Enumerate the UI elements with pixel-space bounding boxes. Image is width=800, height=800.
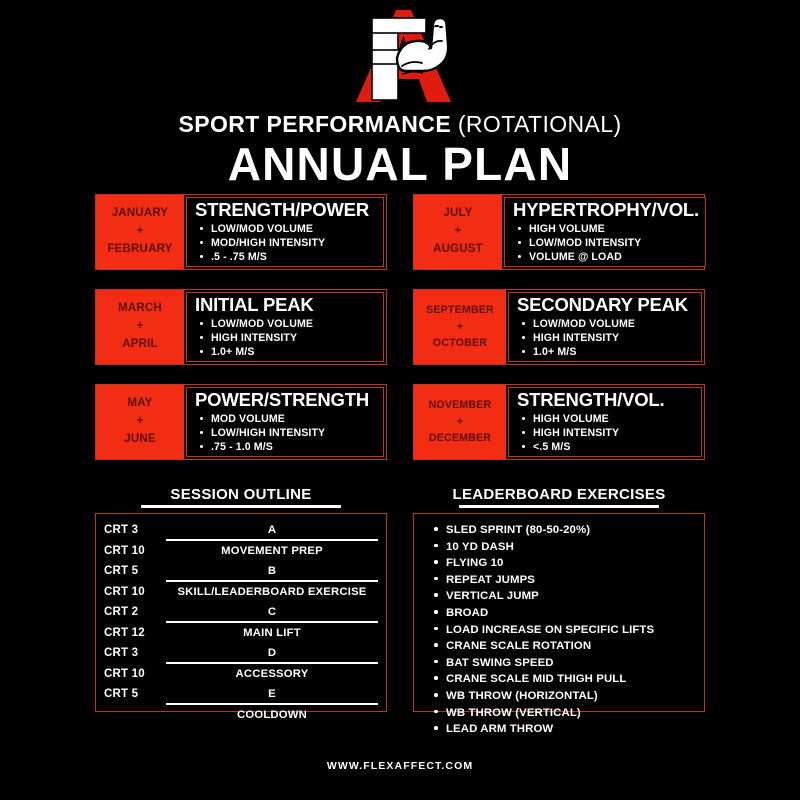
logo-area (0, 4, 800, 108)
phase-body: HYPERTROPHY/VOL. HIGH VOLUME LOW/MOD INT… (504, 197, 706, 267)
month-bottom: FEBRUARY (107, 241, 172, 259)
subtitle-bold: SPORT PERFORMANCE (178, 111, 451, 137)
phase-bullets: LOW/MOD VOLUME HIGH INTENSITY 1.0+ M/S (195, 317, 377, 359)
phase-months: JULY + AUGUST (414, 195, 502, 269)
session-crt: CRT 3 (104, 647, 166, 659)
session-crt: CRT 2 (104, 606, 166, 618)
session-item: COOLDOWN (166, 709, 378, 721)
session-row: COOLDOWN (104, 705, 378, 726)
phase-block: SEPTEMBER + OCTOBER SECONDARY PEAK LOW/M… (413, 289, 705, 365)
session-item: A (166, 524, 378, 536)
month-plus: + (455, 223, 462, 241)
phase-title: STRENGTH/VOL. (517, 390, 695, 409)
list-item: SLED SPRINT (80-50-20%) (446, 522, 696, 539)
session-crt: CRT 5 (104, 688, 166, 700)
heading-underline (141, 505, 341, 508)
session-item: SKILL/LEADERBOARD EXERCISE (166, 586, 378, 598)
phase-block: JANUARY + FEBRUARY STRENGTH/POWER LOW/MO… (95, 194, 387, 270)
phase-block: NOVEMBER + DECEMBER STRENGTH/VOL. HIGH V… (413, 384, 705, 460)
phase-bullet: LOW/MOD INTENSITY (529, 236, 699, 250)
phase-bullet: HIGH INTENSITY (533, 331, 695, 345)
month-plus: + (137, 413, 144, 431)
list-item: FLYING 10 (446, 555, 696, 572)
month-plus: + (137, 223, 144, 241)
footer-url[interactable]: WWW.FLEXAFFECT.COM (0, 760, 800, 772)
page-title: ANNUAL PLAN (0, 139, 800, 190)
lower-sections: SESSION OUTLINE CRT 3 A CRT 10 MOVEMENT … (95, 486, 705, 712)
phase-bullets: HIGH VOLUME HIGH INTENSITY <.5 M/S (517, 412, 695, 454)
month-bottom: AUGUST (433, 241, 483, 259)
phase-block: JULY + AUGUST HYPERTROPHY/VOL. HIGH VOLU… (413, 194, 705, 270)
month-plus: + (457, 414, 463, 430)
list-item: WB THROW (VERTICAL) (446, 705, 696, 722)
list-item: BROAD (446, 605, 696, 622)
leaderboard-heading: LEADERBOARD EXERCISES (413, 486, 705, 503)
session-item: ACCESSORY (166, 668, 378, 680)
phase-title: SECONDARY PEAK (517, 295, 695, 314)
session-crt: CRT 3 (104, 524, 166, 536)
session-item: MOVEMENT PREP (166, 545, 378, 557)
month-bottom: OCTOBER (433, 335, 487, 351)
session-row: CRT 3 A (104, 520, 378, 541)
phase-block: MARCH + APRIL INITIAL PEAK LOW/MOD VOLUM… (95, 289, 387, 365)
month-top: MAY (127, 395, 152, 413)
phase-months: NOVEMBER + DECEMBER (414, 385, 506, 459)
phase-bullet: .75 - 1.0 M/S (211, 440, 377, 454)
month-plus: + (137, 318, 144, 336)
phase-block: MAY + JUNE POWER/STRENGTH MOD VOLUME LOW… (95, 384, 387, 460)
list-item: 10 YD DASH (446, 539, 696, 556)
phase-bullet: HIGH INTENSITY (211, 331, 377, 345)
phase-bullet: VOLUME @ LOAD (529, 250, 699, 264)
session-crt: CRT 10 (104, 545, 166, 557)
flex-affect-logo-icon (339, 6, 461, 106)
phase-body: INITIAL PEAK LOW/MOD VOLUME HIGH INTENSI… (186, 292, 384, 362)
session-crt: CRT 10 (104, 668, 166, 680)
session-outline-panel: CRT 3 A CRT 10 MOVEMENT PREP CRT 5 B CRT… (95, 513, 387, 712)
annual-plan-infographic: SPORT PERFORMANCE (ROTATIONAL) ANNUAL PL… (0, 0, 800, 800)
leaderboard-section: LEADERBOARD EXERCISES SLED SPRINT (80-50… (413, 486, 705, 712)
heading-underline (459, 505, 659, 508)
session-row: CRT 12 MAIN LIFT (104, 623, 378, 644)
session-row: CRT 10 MOVEMENT PREP (104, 541, 378, 562)
month-bottom: APRIL (122, 336, 158, 354)
list-item: LEAD ARM THROW (446, 721, 696, 738)
session-row: CRT 5 E (104, 684, 378, 705)
session-item: C (166, 606, 378, 618)
session-crt: CRT 12 (104, 627, 166, 639)
phase-body: STRENGTH/POWER LOW/MOD VOLUME MOD/HIGH I… (186, 197, 384, 267)
phase-bullet: 1.0+ M/S (533, 345, 695, 359)
month-top: SEPTEMBER (426, 302, 494, 318)
leaderboard-panel: SLED SPRINT (80-50-20%) 10 YD DASH FLYIN… (413, 513, 705, 712)
phase-bullets: LOW/MOD VOLUME MOD/HIGH INTENSITY .5 - .… (195, 222, 377, 264)
list-item: REPEAT JUMPS (446, 572, 696, 589)
phase-bullet: LOW/MOD VOLUME (211, 222, 377, 236)
phase-title: INITIAL PEAK (195, 295, 377, 314)
list-item: LOAD INCREASE ON SPECIFIC LIFTS (446, 622, 696, 639)
title-block: SPORT PERFORMANCE (ROTATIONAL) ANNUAL PL… (0, 112, 800, 190)
month-bottom: DECEMBER (429, 430, 491, 446)
phase-bullet: HIGH INTENSITY (533, 426, 695, 440)
phase-title: HYPERTROPHY/VOL. (513, 200, 699, 219)
phase-bullets: MOD VOLUME LOW/HIGH INTENSITY .75 - 1.0 … (195, 412, 377, 454)
phase-bullet: MOD/HIGH INTENSITY (211, 236, 377, 250)
session-crt: CRT 5 (104, 565, 166, 577)
leaderboard-list: SLED SPRINT (80-50-20%) 10 YD DASH FLYIN… (422, 520, 696, 738)
session-row: CRT 5 B (104, 561, 378, 582)
session-row: CRT 2 C (104, 602, 378, 623)
phase-bullet: HIGH VOLUME (533, 412, 695, 426)
list-item: CRANE SCALE ROTATION (446, 638, 696, 655)
month-top: MARCH (118, 300, 162, 318)
phase-bullet: HIGH VOLUME (529, 222, 699, 236)
session-item: MAIN LIFT (166, 627, 378, 639)
month-top: NOVEMBER (429, 397, 492, 413)
list-item: VERTICAL JUMP (446, 588, 696, 605)
session-item: B (166, 565, 378, 577)
session-item: E (166, 688, 378, 700)
phase-bullets: HIGH VOLUME LOW/MOD INTENSITY VOLUME @ L… (513, 222, 699, 264)
phase-bullets: LOW/MOD VOLUME HIGH INTENSITY 1.0+ M/S (517, 317, 695, 359)
phase-grid: JANUARY + FEBRUARY STRENGTH/POWER LOW/MO… (95, 194, 705, 460)
phase-body: POWER/STRENGTH MOD VOLUME LOW/HIGH INTEN… (186, 387, 384, 457)
list-item: CRANE SCALE MID THIGH PULL (446, 671, 696, 688)
phase-bullet: MOD VOLUME (211, 412, 377, 426)
subtitle-light: (ROTATIONAL) (458, 111, 622, 137)
phase-bullet: 1.0+ M/S (211, 345, 377, 359)
month-top: JULY (443, 205, 472, 223)
phase-bullet: LOW/MOD VOLUME (533, 317, 695, 331)
phase-months: SEPTEMBER + OCTOBER (414, 290, 506, 364)
session-row: CRT 3 D (104, 643, 378, 664)
month-top: JANUARY (112, 205, 169, 223)
phase-months: MAY + JUNE (96, 385, 184, 459)
phase-months: MARCH + APRIL (96, 290, 184, 364)
page-subtitle: SPORT PERFORMANCE (ROTATIONAL) (0, 112, 800, 136)
session-row: CRT 10 ACCESSORY (104, 664, 378, 685)
month-plus: + (457, 319, 463, 335)
phase-bullet: .5 - .75 M/S (211, 250, 377, 264)
phase-months: JANUARY + FEBRUARY (96, 195, 184, 269)
phase-title: POWER/STRENGTH (195, 390, 377, 409)
phase-body: STRENGTH/VOL. HIGH VOLUME HIGH INTENSITY… (508, 387, 702, 457)
phase-body: SECONDARY PEAK LOW/MOD VOLUME HIGH INTEN… (508, 292, 702, 362)
session-outline-heading: SESSION OUTLINE (95, 486, 387, 503)
phase-title: STRENGTH/POWER (195, 200, 377, 219)
phase-bullet: <.5 M/S (533, 440, 695, 454)
session-row: CRT 10 SKILL/LEADERBOARD EXERCISE (104, 582, 378, 603)
session-crt: CRT 10 (104, 586, 166, 598)
list-item: BAT SWING SPEED (446, 655, 696, 672)
session-item: D (166, 647, 378, 659)
phase-bullet: LOW/HIGH INTENSITY (211, 426, 377, 440)
month-bottom: JUNE (124, 431, 155, 449)
session-outline-section: SESSION OUTLINE CRT 3 A CRT 10 MOVEMENT … (95, 486, 387, 712)
phase-bullet: LOW/MOD VOLUME (211, 317, 377, 331)
list-item: WB THROW (HORIZONTAL) (446, 688, 696, 705)
